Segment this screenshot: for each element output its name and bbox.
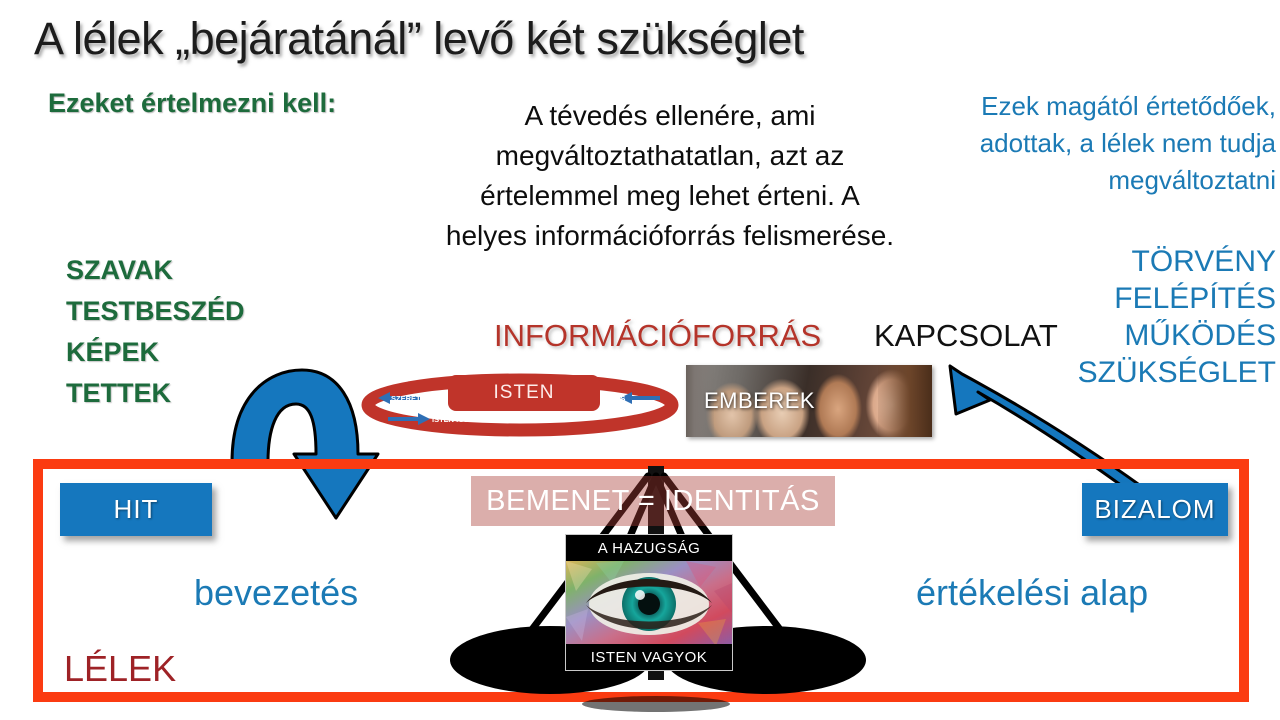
- cycle-node-label: SZERETET: [391, 394, 431, 403]
- paragraph-line: A tévedés ellenére, ami: [420, 96, 920, 136]
- card-bottom-label: ISTEN VAGYOK: [566, 644, 732, 670]
- list-item: TÖRVÉNY: [880, 243, 1276, 280]
- people-photo-caption: EMBEREK: [704, 388, 815, 414]
- slide-canvas: A lélek „bejáratánál” levő két szükségle…: [0, 0, 1280, 720]
- god-center-node: ISTEN: [448, 375, 600, 411]
- paragraph-line: megváltoztathatatlan, azt az: [420, 136, 920, 176]
- right-column-paragraph: Ezek magától értetődőek, adottak, a léle…: [880, 88, 1276, 199]
- list-item: TESTBESZÉD: [66, 291, 245, 332]
- relationship-label: KAPCSOLAT: [874, 318, 1058, 354]
- paragraph-line: értelemmel meg lehet érteni. A: [420, 176, 920, 216]
- intro-caption: bevezetés: [194, 572, 358, 614]
- eye-icon: [566, 561, 732, 646]
- cycle-node-label: ISTEN IGÉJE: [432, 415, 478, 424]
- faith-button-label: HIT: [114, 494, 159, 525]
- center-paragraph: A tévedés ellenére, ami megváltoztathata…: [420, 96, 920, 256]
- paragraph-line: helyes információforrás felismerése.: [420, 216, 920, 256]
- input-identity-banner: BEMENET = IDENTITÁS: [471, 476, 835, 526]
- information-source-label: INFORMÁCIÓFORRÁS: [494, 318, 821, 354]
- list-item: FELÉPÍTÉS: [880, 280, 1276, 317]
- god-center-label: ISTEN: [494, 382, 555, 404]
- input-identity-label: BEMENET = IDENTITÁS: [486, 485, 820, 518]
- trust-button-label: BIZALOM: [1094, 494, 1215, 525]
- faith-button[interactable]: HIT: [60, 483, 212, 536]
- trust-button[interactable]: BIZALOM: [1082, 483, 1228, 536]
- people-photo: EMBEREK: [686, 365, 932, 437]
- paragraph-line: adottak, a lélek nem tudja: [880, 125, 1276, 162]
- evaluation-basis-caption: értékelési alap: [916, 572, 1148, 614]
- left-column-heading: Ezeket értelmezni kell:: [48, 88, 336, 119]
- soul-label: LÉLEK: [64, 648, 176, 690]
- page-title: A lélek „bejáratánál” levő két szükségle…: [34, 12, 804, 66]
- card-top-label: A HAZUGSÁG: [566, 535, 732, 561]
- paragraph-line: Ezek magától értetődőek,: [880, 88, 1276, 125]
- lie-identity-card: A HAZUGSÁG: [565, 534, 733, 671]
- list-item: SZAVAK: [66, 250, 245, 291]
- paragraph-line: megváltoztatni: [880, 162, 1276, 199]
